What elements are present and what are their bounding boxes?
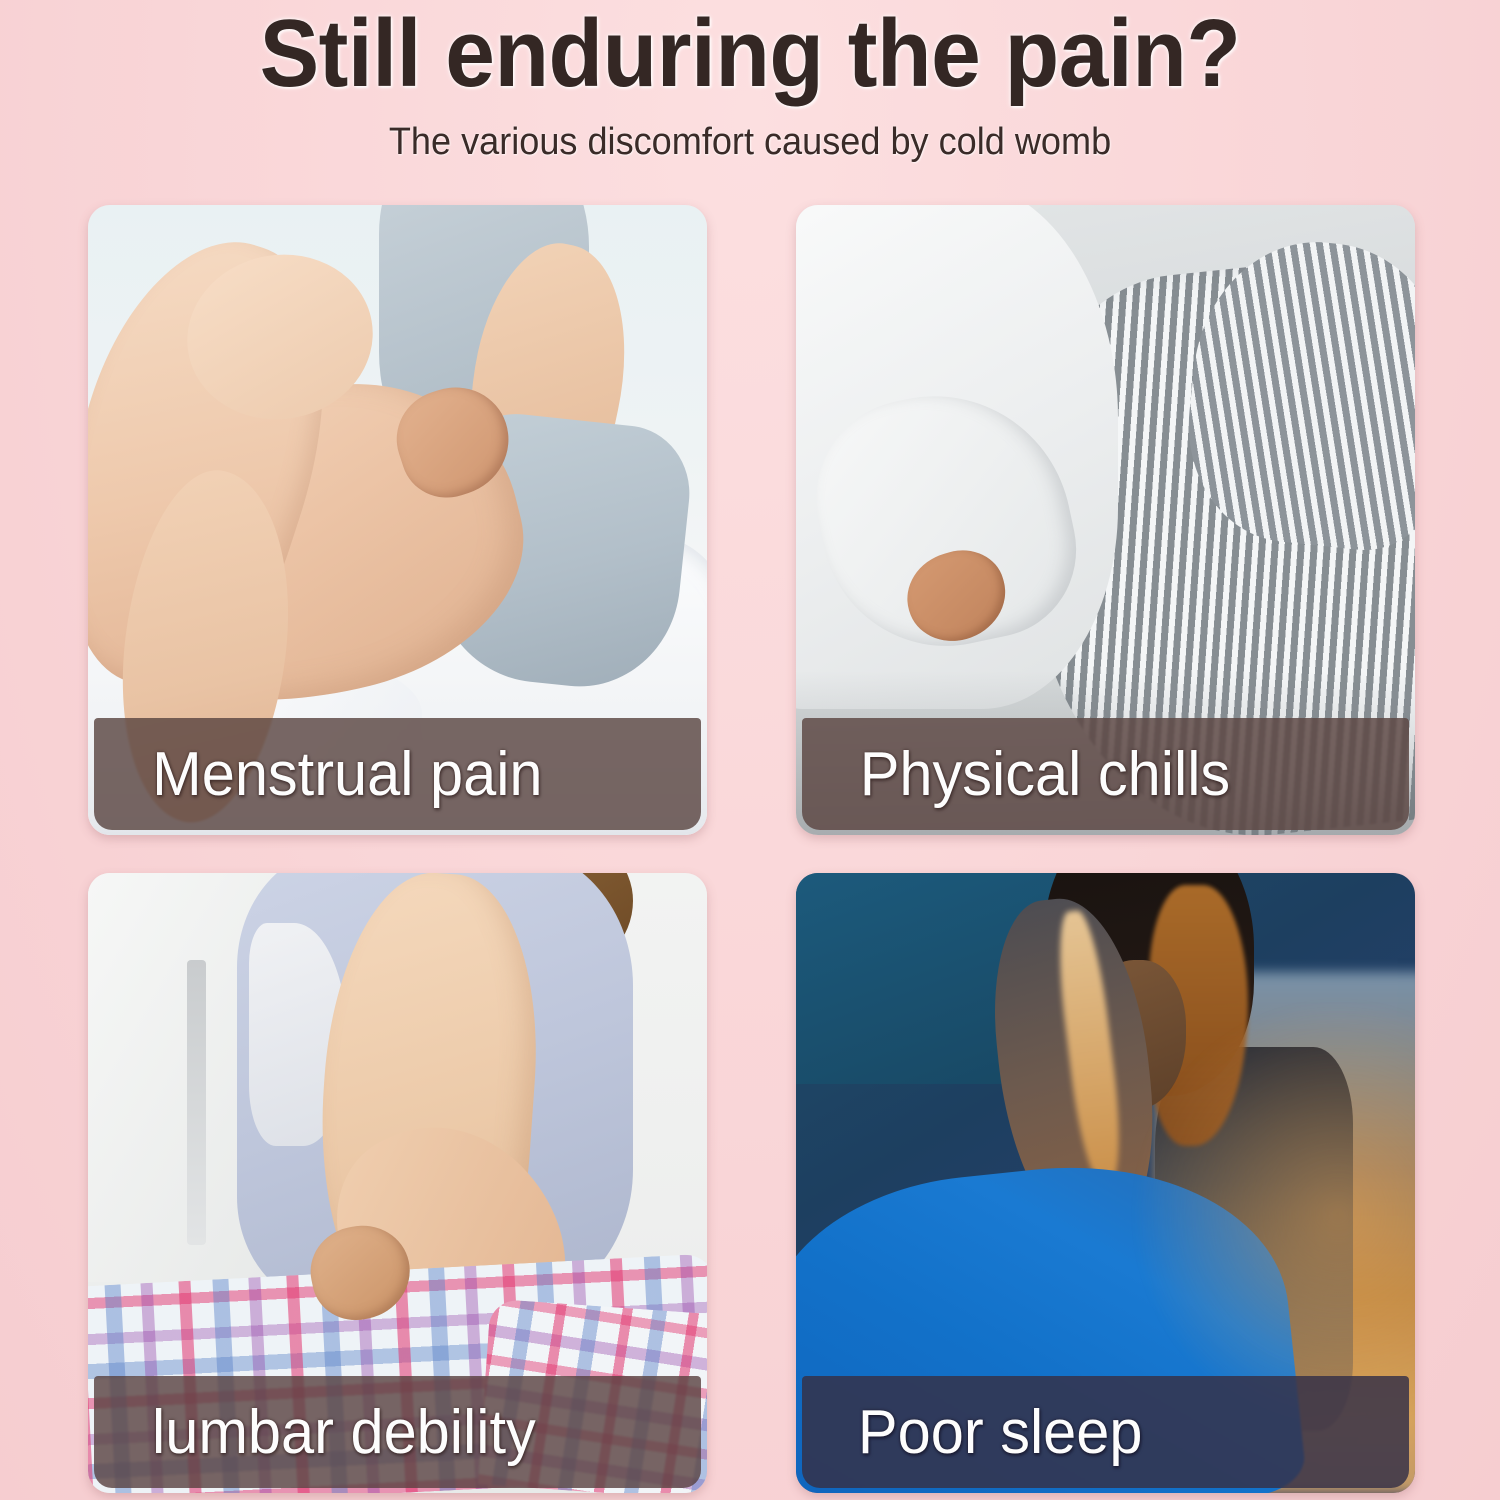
card-label-physical-chills: Physical chills (860, 739, 1230, 810)
card-label-bar-lumbar-debility: lumbar debility (94, 1376, 701, 1488)
symptom-card-poor-sleep[interactable]: Poor sleep (796, 873, 1415, 1493)
page-subtitle: The various discomfort caused by cold wo… (38, 121, 1463, 164)
card-label-poor-sleep: Poor sleep (858, 1397, 1143, 1468)
symptom-card-lumbar-debility[interactable]: lumbar debility (88, 873, 707, 1493)
card-label-bar-menstrual-pain: Menstrual pain (94, 718, 701, 830)
card-label-lumbar-debility: lumbar debility (152, 1397, 536, 1468)
card-label-bar-poor-sleep: Poor sleep (802, 1376, 1409, 1488)
card-label-bar-physical-chills: Physical chills (802, 718, 1409, 830)
symptom-card-menstrual-pain[interactable]: Menstrual pain (88, 205, 707, 835)
page-title: Still enduring the pain? (53, 4, 1448, 105)
poster-header: Still enduring the pain? The various dis… (0, 0, 1500, 164)
card-label-menstrual-pain: Menstrual pain (152, 739, 542, 810)
symptom-card-physical-chills[interactable]: Physical chills (796, 205, 1415, 835)
promo-poster: Still enduring the pain? The various dis… (0, 0, 1500, 1500)
symptom-card-grid: Menstrual pain Physical chills (88, 205, 1415, 1493)
